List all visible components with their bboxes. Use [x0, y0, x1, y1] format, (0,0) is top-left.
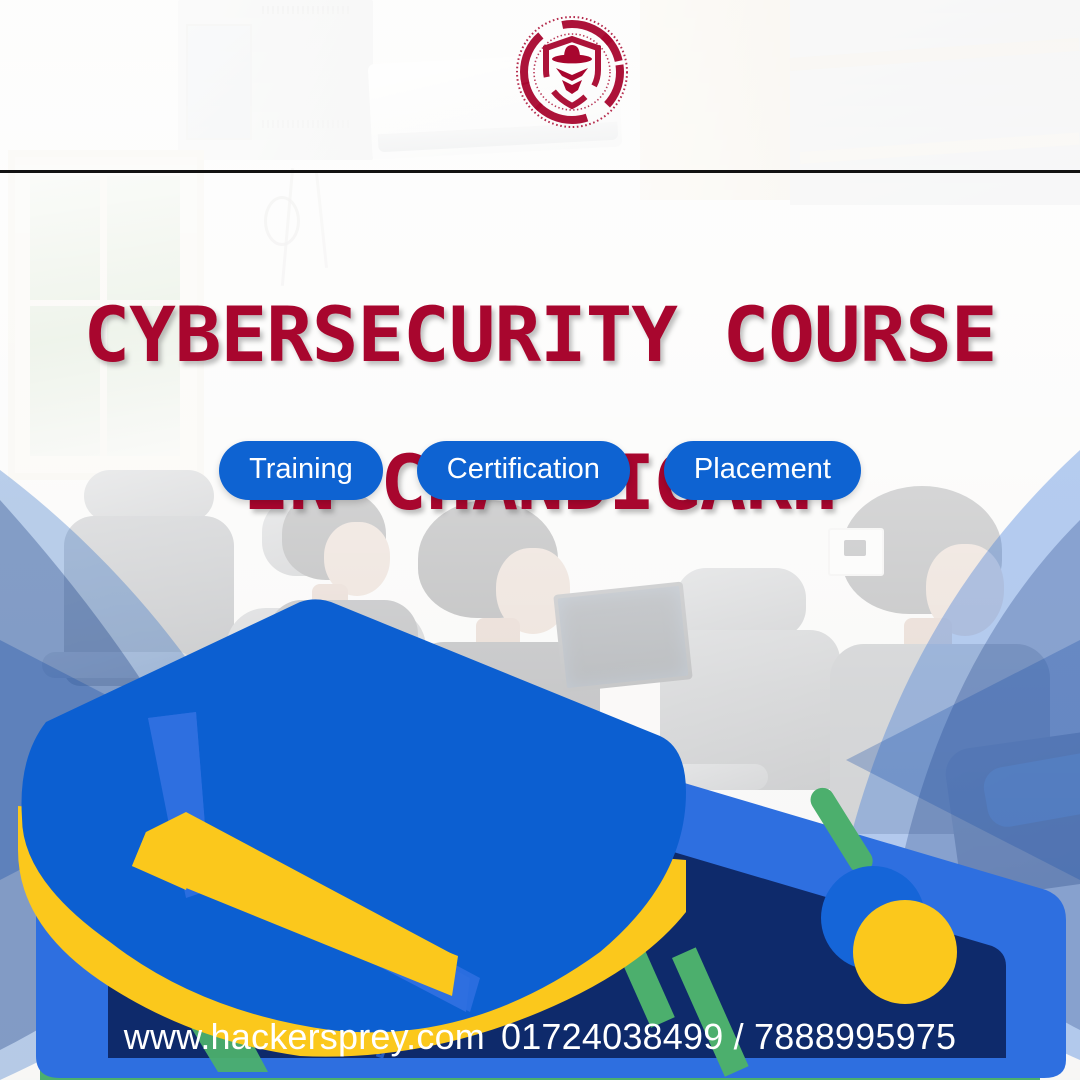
feature-badge-group: Training Certification Placement [0, 441, 1080, 500]
header-divider-rule [0, 170, 1080, 173]
poster-canvas: CYBERSECURITY COURSE IN CHANDIGARH Train… [0, 0, 1080, 1080]
badge-training[interactable]: Training [219, 441, 383, 500]
badge-certification[interactable]: Certification [417, 441, 630, 500]
website-url[interactable]: www.hackersprey.com [124, 1016, 485, 1057]
contact-footer: www.hackersprey.com01724038499 / 7888995… [0, 1016, 1080, 1058]
headline-line-1: CYBERSECURITY COURSE [0, 299, 1080, 372]
phone-numbers[interactable]: 01724038499 / 7888995975 [501, 1016, 956, 1057]
page-title: CYBERSECURITY COURSE IN CHANDIGARH [0, 228, 1080, 591]
payment-circle-yellow [853, 900, 957, 1004]
hacker-spy-shield-logo-icon [512, 12, 632, 132]
hero-illustration: 1098 654 [0, 560, 1080, 1080]
badge-placement[interactable]: Placement [664, 441, 861, 500]
